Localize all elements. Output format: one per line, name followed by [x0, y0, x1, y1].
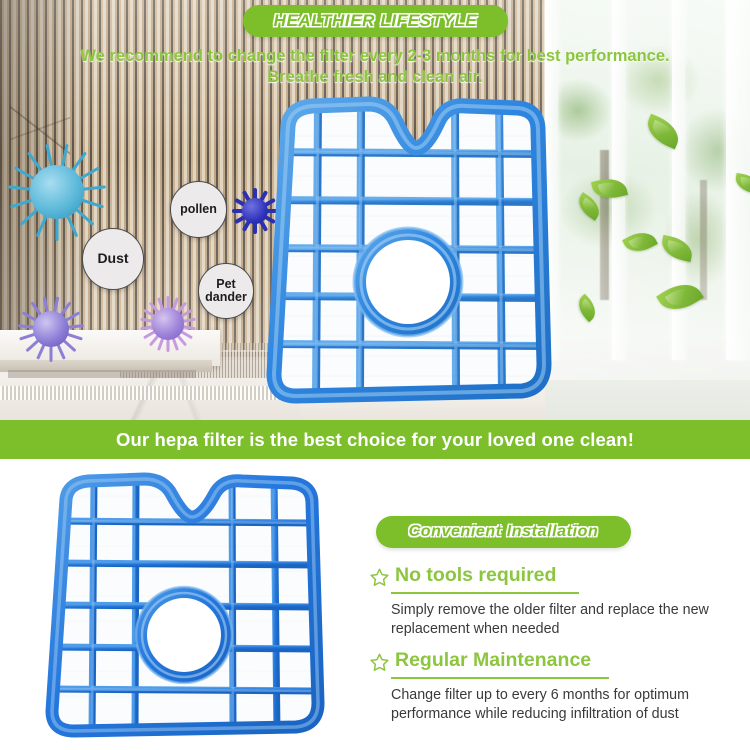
headline-block: We recommend to change the filter every …	[0, 46, 750, 89]
star-icon	[369, 567, 390, 588]
feature-title: No tools required	[395, 566, 556, 589]
feature-regular-maintenance: Regular Maintenance Change filter up to …	[369, 651, 741, 724]
convenient-installation-badge: Convenient Installation	[376, 516, 631, 548]
callout-bubble-pollen: pollen	[170, 181, 227, 238]
feature-title: Regular Maintenance	[395, 651, 591, 674]
cyan-virus-particle	[8, 143, 106, 241]
hepa-filter-product-top	[256, 96, 560, 408]
marble-bench-base	[8, 370, 196, 378]
feature-body: Change filter up to every 6 months for o…	[391, 686, 741, 724]
healthier-lifestyle-badge: HEALTHIER LIFESTYLE	[243, 5, 508, 37]
badge-label: HEALTHIER LIFESTYLE	[274, 11, 478, 31]
virus-core	[152, 308, 183, 339]
filter-center-hole	[136, 587, 232, 683]
headline-line-2: Breathe fresh and clean air.	[0, 67, 750, 88]
feature-no-tools-required: No tools required Simply remove the olde…	[369, 566, 733, 639]
hepa-banner: Our hepa filter is the best choice for y…	[0, 420, 750, 459]
callout-label: Dust	[97, 251, 128, 266]
feature-heading: No tools required	[369, 566, 733, 589]
top-scene: Dust pollen Pet dander HEALTHIER LIFESTY…	[0, 0, 750, 420]
feature-underline	[391, 677, 609, 680]
callout-bubble-pet-dander: Pet dander	[198, 263, 254, 319]
star-icon	[369, 652, 390, 673]
callout-label: Pet dander	[204, 278, 248, 305]
headline-line-1: We recommend to change the filter every …	[0, 46, 750, 67]
feature-underline	[391, 592, 579, 595]
filter-center-hole	[354, 228, 462, 336]
hepa-filter-product-bottom	[36, 471, 336, 741]
violet-allergen-particle	[140, 296, 196, 352]
product-infographic: Dust pollen Pet dander HEALTHIER LIFESTY…	[0, 0, 750, 750]
badge-label: Convenient Installation	[409, 523, 599, 541]
callout-label: pollen	[180, 203, 217, 217]
bottom-section: Convenient Installation No tools require…	[0, 459, 750, 750]
feature-heading: Regular Maintenance	[369, 651, 741, 674]
banner-text: Our hepa filter is the best choice for y…	[116, 429, 634, 451]
feature-body: Simply remove the older filter and repla…	[391, 601, 731, 639]
hepa-filter-illustration	[36, 471, 336, 741]
purple-allergen-particle	[18, 296, 84, 362]
hepa-filter-illustration	[256, 96, 560, 408]
callout-bubble-dust: Dust	[82, 228, 144, 290]
